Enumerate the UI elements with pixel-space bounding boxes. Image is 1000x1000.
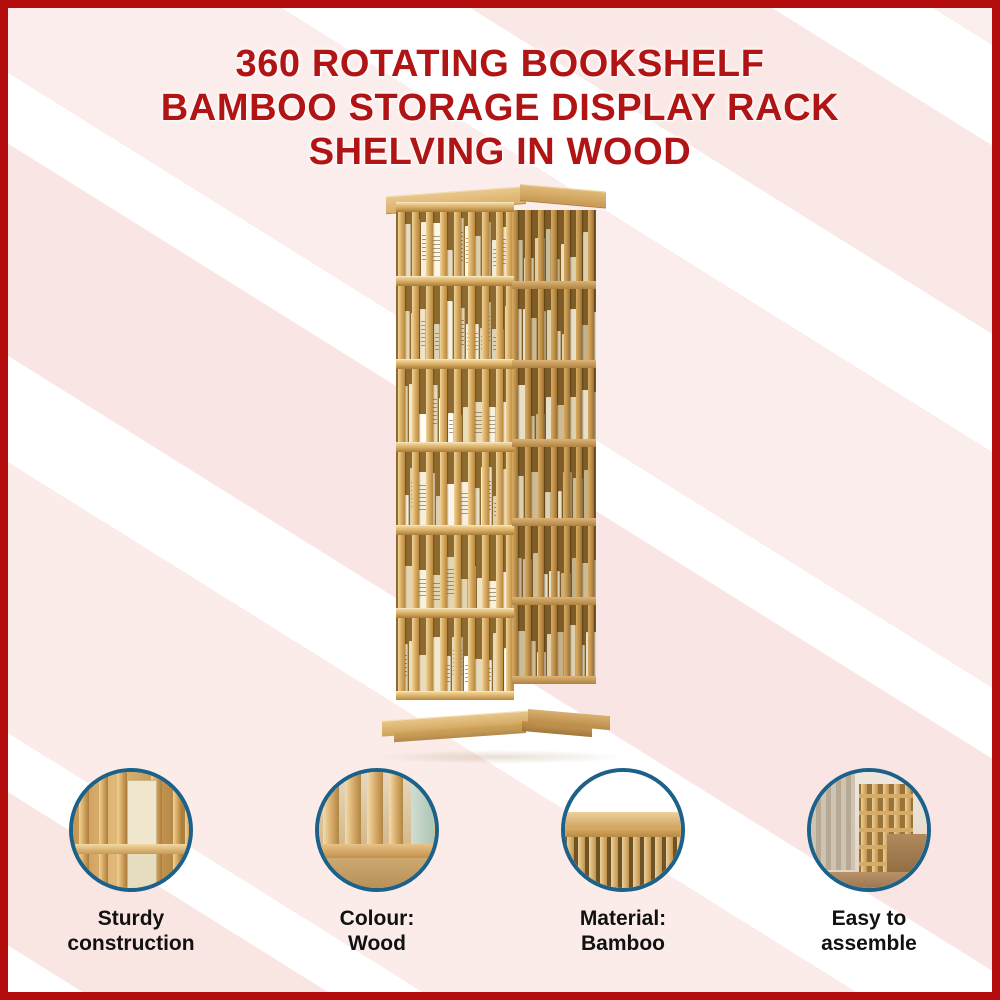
title-line-3: SHELVING IN WOOD — [8, 130, 992, 174]
feature-image-sturdy — [69, 768, 193, 892]
feature-sturdy: Sturdy construction — [26, 768, 236, 956]
shelf-deck — [396, 525, 514, 535]
shelf-deck — [396, 608, 514, 618]
shelf-deck — [512, 597, 596, 605]
bookshelf-side-face — [512, 210, 596, 684]
feature-assemble: Easy to assemble — [764, 768, 974, 956]
shelf-deck — [396, 442, 514, 452]
feature-label-material: Material: Bamboo — [580, 906, 666, 956]
feature-image-material — [561, 768, 685, 892]
feature-label-assemble: Easy to assemble — [821, 906, 917, 956]
feature-material: Material: Bamboo — [518, 768, 728, 956]
shelf-deck — [396, 276, 514, 286]
feature-image-assemble — [807, 768, 931, 892]
shelf-deck — [512, 518, 596, 526]
feature-label-sturdy: Sturdy construction — [67, 906, 194, 956]
product-image-card: 360 ROTATING BOOKSHELF BAMBOO STORAGE DI… — [0, 0, 1000, 1000]
feature-label-colour: Colour: Wood — [340, 906, 415, 956]
feature-colour: Colour: Wood — [272, 768, 482, 956]
feature-image-colour — [315, 768, 439, 892]
feature-callouts: Sturdy construction Colour: Wood Materia… — [8, 768, 992, 968]
shelf-deck — [512, 676, 596, 684]
shelf-deck — [512, 360, 596, 368]
product-image-bookshelf — [378, 180, 618, 760]
title-line-1: 360 ROTATING BOOKSHELF — [8, 42, 992, 86]
shelf-deck — [512, 281, 596, 289]
bookshelf-body — [396, 202, 596, 712]
title-line-2: BAMBOO STORAGE DISPLAY RACK — [8, 86, 992, 130]
bookshelf-base-plinth — [382, 708, 608, 738]
shelf-deck — [396, 359, 514, 369]
bookshelf-front-face — [396, 202, 514, 700]
shelf-deck — [512, 439, 596, 447]
shelf-deck — [396, 691, 514, 700]
page-title: 360 ROTATING BOOKSHELF BAMBOO STORAGE DI… — [8, 42, 992, 174]
